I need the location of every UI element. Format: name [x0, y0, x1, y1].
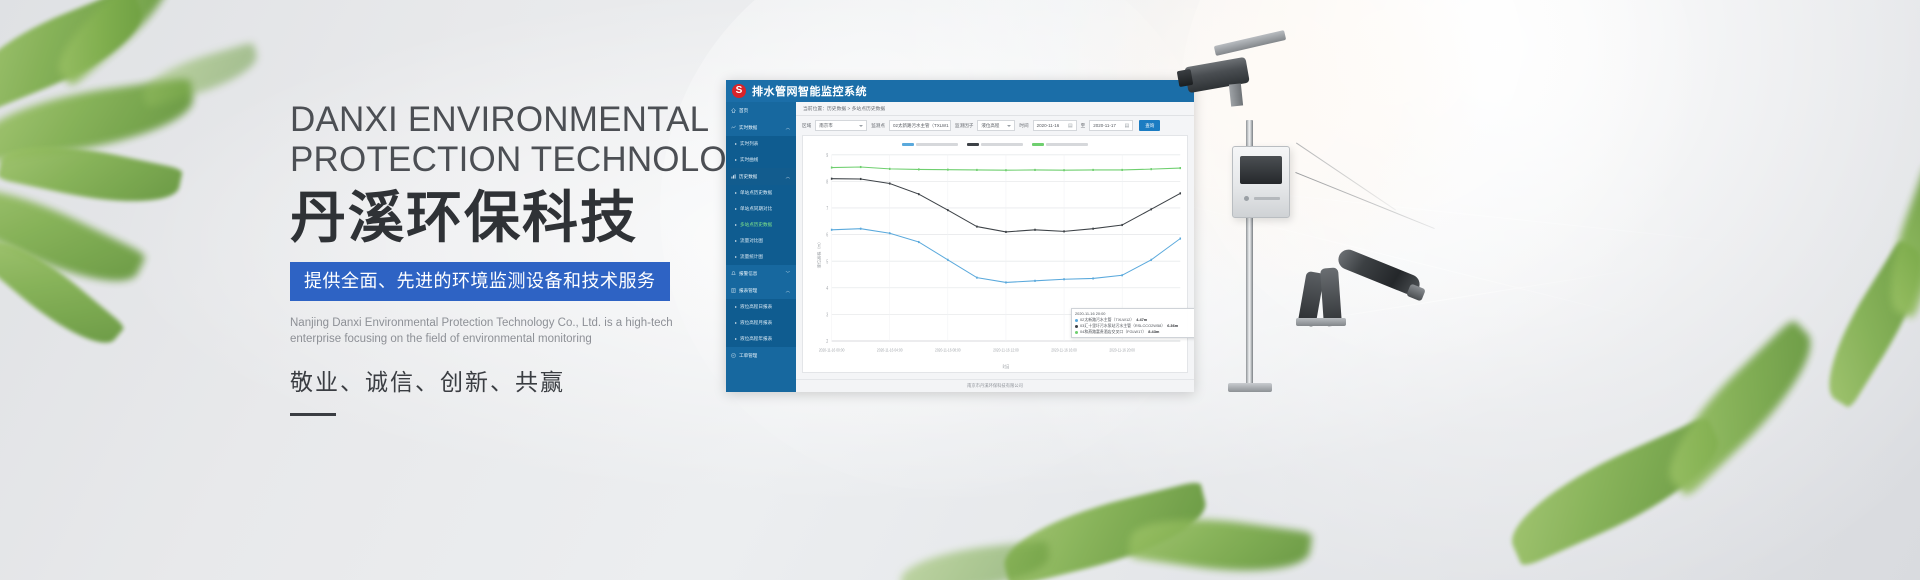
time-label: 时间: [1019, 123, 1028, 129]
chevron-right-icon: [735, 143, 737, 145]
pole-base: [1228, 383, 1272, 392]
chart-point: [1005, 169, 1007, 171]
chevron-right-icon: [735, 159, 737, 161]
camera-mount: [1229, 83, 1243, 106]
svg-text:7: 7: [826, 205, 828, 211]
chevron-down-icon: [1007, 125, 1011, 127]
sidebar-item-label: 实时曲线: [740, 157, 758, 163]
sidebar-item-level-yearly-report[interactable]: 液位高程年报表: [726, 331, 796, 347]
sidebar-item-report-management[interactable]: 报表管理 ︿: [726, 282, 796, 299]
sidebar-item-level-monthly-report[interactable]: 液位高程月报表: [726, 315, 796, 331]
svg-text:3: 3: [826, 312, 828, 318]
sidebar-item-label: 多站点历史数据: [740, 222, 772, 228]
breadcrumb: 当前位置：历史数据 > 多站点历史数据: [796, 102, 1194, 116]
monitoring-pole: [1246, 120, 1253, 390]
chart-point: [1180, 237, 1182, 239]
chart-point: [831, 229, 833, 231]
sidebar-item-realtime-list[interactable]: 实时列表: [726, 136, 796, 152]
sidebar-item-label: 流量对比图: [740, 238, 763, 244]
sensor-device-b: [1320, 267, 1342, 326]
chart-point: [1180, 192, 1182, 194]
sidebar-item-realtime-curve[interactable]: 实时曲线: [726, 152, 796, 168]
sidebar-item-single-station-compare[interactable]: 单站点同期对比: [726, 201, 796, 217]
sidebar-item-label: 报表管理: [739, 288, 757, 294]
chart-point: [1034, 229, 1036, 231]
chevron-right-icon: [735, 208, 737, 210]
chart-point: [1180, 167, 1182, 169]
cable-line: [1295, 172, 1434, 229]
chart-point: [918, 168, 920, 170]
chart-point: [860, 166, 862, 168]
sidebar-item-label: 实时数据: [739, 125, 757, 131]
water-probe: [1335, 247, 1422, 298]
chart-point: [1063, 169, 1065, 171]
legend-label-series-3: [1046, 143, 1088, 146]
tooltip-dot-series-3: [1075, 331, 1078, 334]
tooltip-value-series-3: 8.43m: [1148, 329, 1159, 335]
station-select[interactable]: 02太新路污水主管（TXLW1: [889, 120, 951, 131]
chart-tooltip: 2020-11-16 20:00 02太新路污水主管（TXLW12） 4.47m…: [1071, 308, 1194, 338]
region-label: 区域: [802, 123, 811, 129]
sidebar-item-label: 液位高程年报表: [740, 336, 772, 342]
chart-point: [1092, 277, 1094, 279]
chart-point: [1034, 169, 1036, 171]
chart-point: [1150, 259, 1152, 261]
hero-slogan: 敬业、诚信、创新、共赢: [290, 363, 710, 397]
region-value: 南京市: [819, 123, 833, 129]
hero-description: Nanjing Danxi Environmental Protection T…: [290, 315, 680, 347]
chart-point: [1150, 208, 1152, 210]
chart-point: [831, 166, 833, 168]
chart-point: [1005, 231, 1007, 233]
factor-select[interactable]: 液位高程: [977, 120, 1015, 131]
chart-point: [1034, 280, 1036, 282]
cabinet-screen: [1240, 156, 1282, 184]
chart-point: [918, 193, 920, 195]
sidebar-item-label: 实时列表: [740, 141, 758, 147]
hero-divider: [290, 413, 336, 416]
decorative-line-1: [1148, 195, 1653, 322]
chevron-up-icon: ︿: [786, 125, 790, 131]
chart-point: [976, 226, 978, 228]
hero-text-block: DANXI ENVIRONMENTAL PROTECTION TECHNOLOG…: [290, 100, 710, 416]
order-icon: [731, 353, 736, 358]
home-icon: [731, 108, 736, 113]
sidebar-item-level-daily-report[interactable]: 液位高程日报表: [726, 299, 796, 315]
svg-text:8: 8: [826, 179, 828, 185]
svg-text:2020-11-16 20:00: 2020-11-16 20:00: [1109, 347, 1135, 353]
chevron-down-icon: ﹀: [786, 271, 790, 277]
chevron-right-icon: [735, 224, 737, 226]
legend-entry[interactable]: [902, 143, 958, 146]
legend-entry[interactable]: [967, 143, 1023, 146]
legend-label-series-2: [981, 143, 1023, 146]
svg-text:5: 5: [826, 259, 828, 265]
app-footer: 南京市丹溪环保科技有限公司: [796, 379, 1194, 392]
svg-text:2: 2: [826, 338, 828, 344]
sidebar-item-alarm-info[interactable]: 报警信息 ﹀: [726, 265, 796, 282]
chart-point: [1063, 278, 1065, 280]
chart-card: 液位高程（m） 234567892020-11-16 00:002020-11-…: [802, 135, 1188, 373]
chevron-right-icon: [735, 306, 737, 308]
app-body: 首页 实时数据 ︿ 实时列表 实时曲线: [726, 102, 1194, 392]
legend-swatch-series-3: [1032, 143, 1044, 146]
legend-swatch-series-2: [967, 143, 979, 146]
camera-arm: [1214, 30, 1286, 56]
sidebar-item-label: 液位高程月报表: [740, 320, 772, 326]
tooltip-value-series-2: 6.36m: [1167, 323, 1178, 329]
calendar-icon: ▤: [1124, 123, 1129, 129]
chart-point: [889, 232, 891, 234]
chevron-right-icon: [735, 240, 737, 242]
sidebar-item-single-station-history[interactable]: 单站点历史数据: [726, 185, 796, 201]
chart-point: [889, 182, 891, 184]
probe-tip: [1406, 283, 1426, 301]
chart-point: [1121, 169, 1123, 171]
chart-point: [860, 178, 862, 180]
factor-value: 液位高程: [981, 123, 999, 129]
sidebar-item-label: 单站点同期对比: [740, 206, 772, 212]
app-logo-icon: S: [732, 84, 746, 98]
hero-banner: DANXI ENVIRONMENTAL PROTECTION TECHNOLOG…: [0, 0, 1920, 580]
date-to-input[interactable]: 2020-11-17 ▤: [1089, 120, 1133, 131]
hero-title-english: DANXI ENVIRONMENTAL PROTECTION TECHNOLOG…: [290, 100, 710, 180]
hero-title-english-line1: DANXI ENVIRONMENTAL: [290, 100, 710, 140]
leaf-decoration: [1649, 318, 1832, 497]
chart-point: [1005, 281, 1007, 283]
chevron-down-icon: [859, 125, 863, 127]
realtime-icon: [731, 125, 736, 130]
sidebar-item-label: 流量统计图: [740, 254, 763, 260]
sidebar-item-label: 历史数据: [739, 174, 757, 180]
search-button[interactable]: 查询: [1139, 120, 1160, 131]
sidebar-item-flow-statistics-chart[interactable]: 流量统计图: [726, 249, 796, 265]
cctv-camera-body: [1184, 57, 1250, 93]
calendar-icon: ▤: [1068, 123, 1073, 129]
app-title: 排水管网智能监控系统: [752, 83, 867, 99]
tooltip-dot-series-1: [1075, 319, 1078, 322]
monitoring-app-window: S 排水管网智能监控系统 首页 实时数据 ︿: [726, 80, 1194, 392]
chart-point: [947, 169, 949, 171]
svg-text:2020-11-16 16:00: 2020-11-16 16:00: [1051, 347, 1077, 353]
chart-plot: 234567892020-11-16 00:002020-11-16 04:00…: [803, 150, 1187, 372]
date-separator: 至: [1081, 123, 1086, 129]
control-cabinet: [1232, 146, 1290, 218]
station-value: 02太新路污水主管（TXLW1: [893, 123, 949, 129]
chart-point: [1121, 274, 1123, 276]
date-from-input[interactable]: 2020-11-16 ▤: [1033, 120, 1077, 131]
filter-bar: 区域 南京市 监测点 02太新路污水主管（TXLW1 监测因子 液位高程 时间: [796, 116, 1194, 135]
station-label: 监测点: [871, 123, 885, 129]
cable-line: [1296, 143, 1396, 211]
chart-point: [976, 169, 978, 171]
sidebar-item-label: 单站点历史数据: [740, 190, 772, 196]
chart-point: [947, 259, 949, 261]
chart-point: [1121, 224, 1123, 226]
content-area: 当前位置：历史数据 > 多站点历史数据 区域 南京市 监测点 02太新路污水主管…: [796, 102, 1194, 392]
hero-tagline: 提供全面、先进的环境监测设备和技术服务: [290, 262, 670, 301]
sidebar-item-home[interactable]: 首页: [726, 102, 796, 119]
date-from-value: 2020-11-16: [1037, 123, 1060, 128]
sidebar-item-label: 工单管理: [739, 353, 757, 359]
tooltip-row: 04和燕路富贵酒店交叉口（FGLW17） 8.43m: [1075, 329, 1194, 335]
chart-point: [860, 228, 862, 230]
sidebar-item-label: 报警信息: [739, 271, 757, 277]
chart-point: [831, 178, 833, 180]
legend-label-series-1: [916, 143, 958, 146]
chevron-right-icon: [735, 192, 737, 194]
app-header: S 排水管网智能监控系统: [726, 80, 1194, 102]
chevron-up-icon: ︿: [786, 288, 790, 294]
chart-point: [1150, 168, 1152, 170]
report-icon: [731, 288, 736, 293]
factor-label: 监测因子: [955, 123, 973, 129]
chevron-right-icon: [735, 338, 737, 340]
svg-text:2020-11-16 00:00: 2020-11-16 00:00: [819, 347, 845, 353]
leaf-decoration: [138, 42, 263, 108]
date-to-value: 2020-11-17: [1093, 123, 1116, 128]
decorative-line-2: [1233, 267, 1648, 334]
sidebar-item-multi-station-history[interactable]: 多站点历史数据: [726, 217, 796, 233]
sidebar: 首页 实时数据 ︿ 实时列表 实时曲线: [726, 102, 796, 392]
legend-swatch-series-1: [902, 143, 914, 146]
chart-point: [1063, 230, 1065, 232]
sidebar-item-history-data[interactable]: 历史数据 ︿: [726, 168, 796, 185]
chart-icon: [731, 174, 736, 179]
chevron-right-icon: [735, 256, 737, 258]
chart-point: [976, 277, 978, 279]
cabinet-indicator: [1244, 196, 1249, 201]
hero-title-chinese: 丹溪环保科技: [290, 186, 710, 250]
cabinet-vent: [1254, 197, 1280, 200]
chart-point: [918, 241, 920, 243]
region-select[interactable]: 南京市: [815, 120, 867, 131]
legend-entry[interactable]: [1032, 143, 1088, 146]
chart-point: [947, 209, 949, 211]
chevron-up-icon: ︿: [786, 174, 790, 180]
sidebar-item-label: 首页: [739, 108, 748, 114]
chart-legend: [803, 141, 1187, 148]
hero-title-english-line2: PROTECTION TECHNOLOGY: [290, 140, 710, 180]
sensor-stand: [1296, 318, 1346, 326]
chart-point: [889, 168, 891, 170]
sensor-device-a: [1297, 271, 1324, 327]
tooltip-name-series-3: 04和燕路富贵酒店交叉口（FGLW17）: [1080, 329, 1146, 335]
chart-point: [1092, 228, 1094, 230]
decorative-line-3: [1152, 181, 1749, 245]
decorative-circle-2: [1180, 0, 1700, 360]
svg-text:2020-11-16 08:00: 2020-11-16 08:00: [935, 347, 961, 353]
bell-icon: [731, 271, 736, 276]
svg-text:时间: 时间: [1003, 363, 1010, 370]
sidebar-item-label: 液位高程日报表: [740, 304, 772, 310]
svg-text:4: 4: [826, 285, 828, 291]
svg-text:6: 6: [826, 232, 828, 238]
chevron-right-icon: [735, 322, 737, 324]
svg-text:2020-11-16 12:00: 2020-11-16 12:00: [993, 347, 1019, 353]
svg-text:2020-11-16 04:00: 2020-11-16 04:00: [877, 347, 903, 353]
tooltip-dot-series-2: [1075, 325, 1078, 328]
chart-point: [1092, 169, 1094, 171]
sidebar-item-flow-compare-chart[interactable]: 流量对比图: [726, 233, 796, 249]
svg-text:9: 9: [826, 152, 828, 158]
sidebar-item-realtime-data[interactable]: 实时数据 ︿: [726, 119, 796, 136]
sidebar-item-work-order-management[interactable]: 工单管理: [726, 347, 796, 364]
chart-svg: 234567892020-11-16 00:002020-11-16 04:00…: [803, 150, 1187, 372]
